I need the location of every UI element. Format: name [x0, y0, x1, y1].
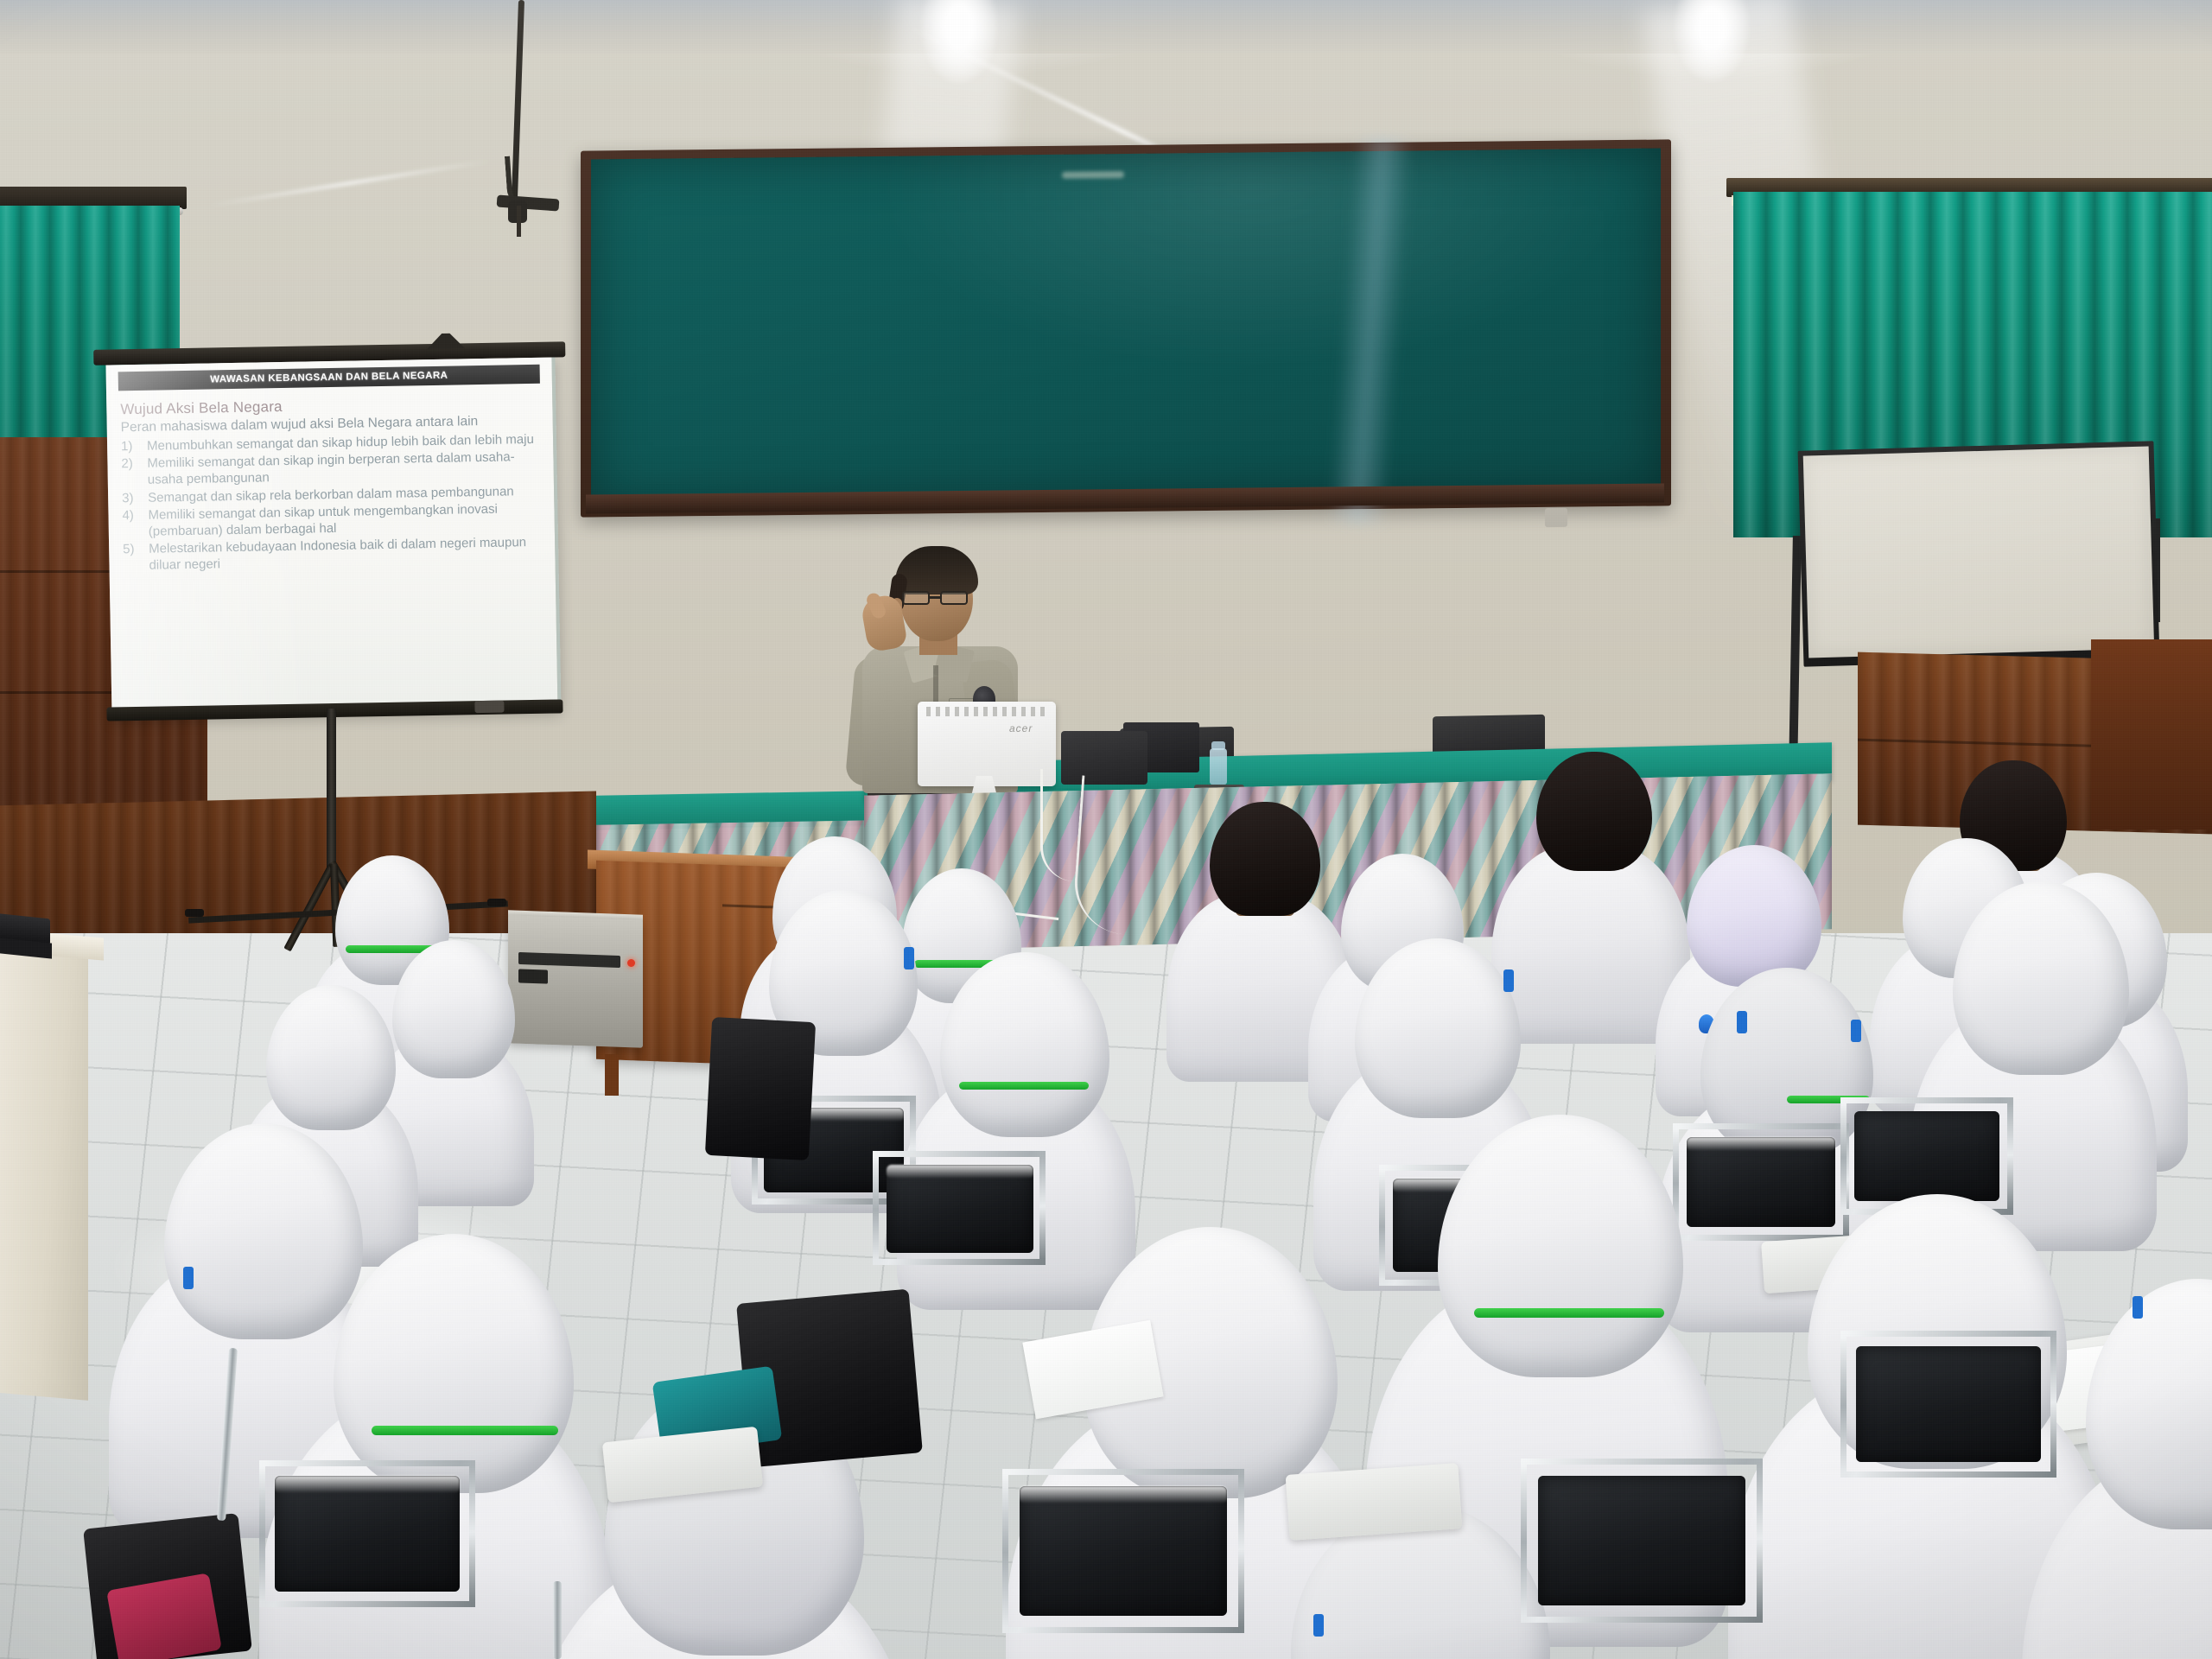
chair-backrest	[1854, 1111, 1999, 1201]
student-head	[1536, 752, 1652, 871]
student-head	[1210, 802, 1320, 916]
chair-backrest	[1538, 1476, 1745, 1605]
whiteboard-surface	[1803, 446, 2154, 658]
wood-cabinet-right-far	[2091, 639, 2212, 829]
chair-backrest	[275, 1476, 460, 1592]
screen-pull-knob[interactable]	[474, 701, 504, 714]
pen-icon	[1503, 969, 1514, 992]
monitor-brand-label: acer	[1009, 722, 1033, 734]
hair-tie	[372, 1426, 558, 1435]
chair-backrest	[1856, 1346, 2041, 1462]
hair-tie	[1474, 1308, 1664, 1318]
glasses-lens	[940, 591, 968, 605]
list-number: 3)	[122, 489, 143, 506]
power-cable	[1071, 775, 1151, 935]
classroom-seminar-photo: WAWASAN KEBANGSAAN DAN BELA NEGARA Wujud…	[0, 0, 2212, 1659]
pen-icon	[183, 1267, 194, 1289]
power-led-icon	[627, 959, 635, 967]
pen-icon	[1313, 1614, 1324, 1637]
pen-icon	[1737, 1011, 1747, 1033]
slide-header-banner: WAWASAN KEBANGSAAN DAN BELA NEGARA	[118, 365, 540, 391]
chalkboard-clip	[1545, 508, 1567, 527]
projection-screen: WAWASAN KEBANGSAAN DAN BELA NEGARA Wujud…	[105, 357, 561, 719]
amplifier-port	[518, 969, 548, 983]
list-text: Memiliki semangat dan sikap untuk mengem…	[148, 500, 539, 540]
slide-content: WAWASAN KEBANGSAAN DAN BELA NEGARA Wujud…	[115, 365, 543, 719]
slide-header-text: WAWASAN KEBANGSAAN DAN BELA NEGARA	[210, 371, 448, 385]
screen-surface: WAWASAN KEBANGSAAN DAN BELA NEGARA Wujud…	[105, 357, 561, 719]
slide-list: 1) Menumbuhkan semangat dan sikap hidup …	[121, 431, 540, 575]
list-text: Memiliki semangat dan sikap ingin berper…	[147, 448, 538, 488]
glasses-lens	[902, 591, 930, 605]
monitor-vents	[926, 707, 1046, 716]
ceiling-band	[0, 0, 2212, 54]
chair-chrome-glint	[887, 1165, 1033, 1179]
chair-backrest	[1020, 1486, 1227, 1616]
list-number: 4)	[122, 507, 143, 541]
pen-icon	[1851, 1020, 1861, 1042]
glasses-bridge	[930, 596, 940, 599]
tripod-foot	[185, 909, 204, 917]
chair-leg	[553, 1581, 562, 1659]
chalkboard	[581, 139, 1671, 517]
screen-tripod-post	[327, 709, 336, 873]
whiteboard[interactable]	[1798, 441, 2160, 666]
list-number: 1)	[121, 438, 142, 455]
chair-tablet-arm	[1286, 1463, 1463, 1541]
bag	[705, 1017, 816, 1160]
list-number: 2)	[121, 455, 143, 489]
chair-chrome-glint	[1020, 1486, 1227, 1503]
list-number: 5)	[123, 541, 144, 575]
presenter	[847, 544, 1037, 829]
tripod-foot	[487, 899, 506, 906]
left-counter-cabinet	[0, 943, 88, 1401]
chalkboard-glare	[1326, 136, 1414, 525]
chalkboard-surface	[591, 149, 1661, 505]
hair-tie	[959, 1082, 1089, 1090]
water-bottle[interactable]	[1210, 748, 1227, 785]
glasses-icon	[902, 591, 971, 605]
chalk-smudge	[1062, 171, 1124, 179]
chair-chrome-glint	[275, 1476, 460, 1493]
list-text: Melestarikan kebudayaan Indonesia baik d…	[149, 534, 540, 574]
pen-icon	[904, 947, 914, 969]
microphone-cord	[517, 206, 521, 237]
slide-list-item: 5) Melestarikan kebudayaan Indonesia bai…	[123, 534, 540, 575]
pen-icon	[2133, 1296, 2143, 1319]
lectern-leg	[605, 1054, 619, 1096]
chair-chrome-glint	[1687, 1137, 1835, 1151]
presenter-hair	[895, 546, 978, 594]
